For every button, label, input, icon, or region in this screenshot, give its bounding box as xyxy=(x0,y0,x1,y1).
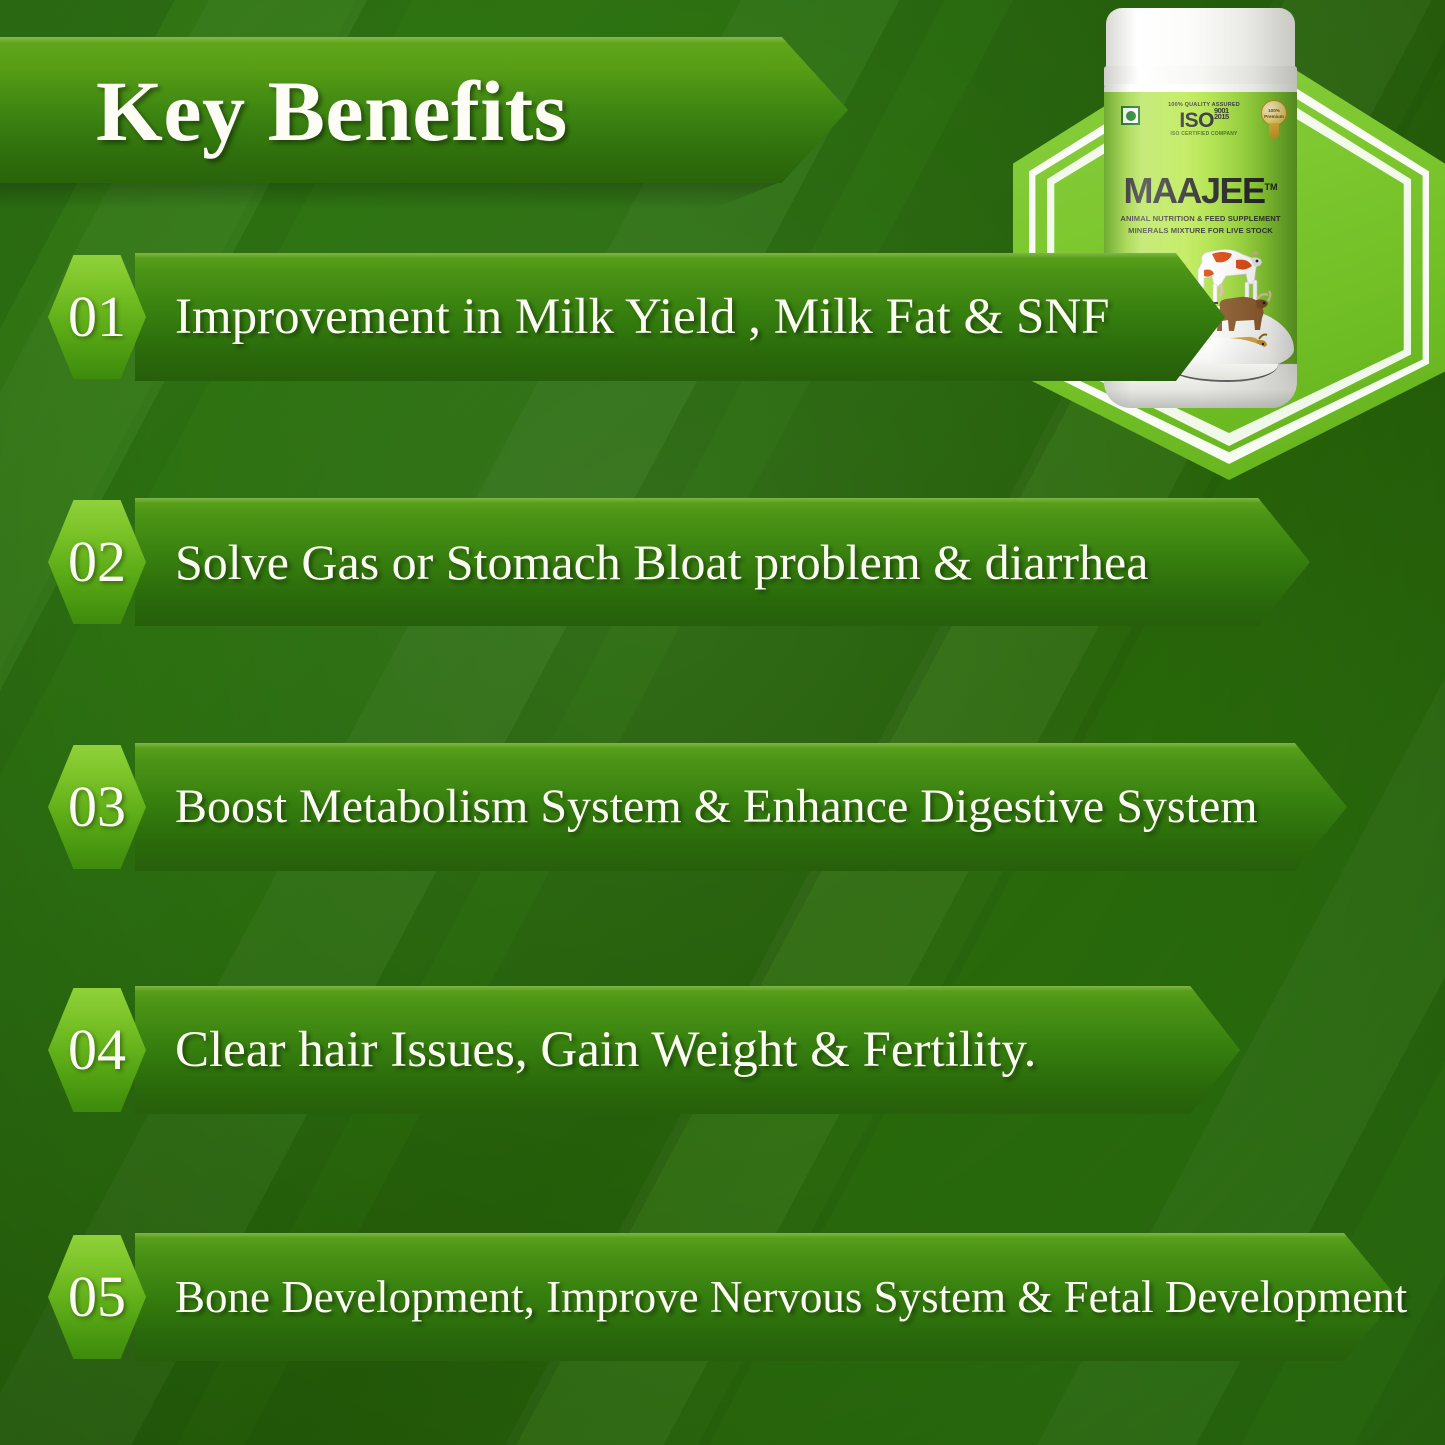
brand-word: MAAJEE xyxy=(1123,170,1264,211)
benefit-number-label: 04 xyxy=(48,988,146,1112)
benefit-text: Boost Metabolism System & Enhance Digest… xyxy=(175,743,1258,871)
page-title: Key Benefits xyxy=(96,52,796,170)
benefit-number-label: 01 xyxy=(48,255,146,379)
product-subtitle-1: ANIMAL NUTRITION & FEED SUPPLEMENT xyxy=(1104,214,1297,223)
benefit-number-label: 05 xyxy=(48,1235,146,1359)
vegetarian-mark-icon xyxy=(1121,106,1140,125)
product-subtitle-2: MINERALS MIXTURE FOR LIVE STOCK xyxy=(1104,226,1297,235)
infographic-canvas: Key Benefits 100% QUALITY ASSURED ISO900… xyxy=(0,0,1445,1445)
benefit-text: Bone Development, Improve Nervous System… xyxy=(175,1233,1407,1361)
medal-circle: 100% Premium xyxy=(1261,100,1287,126)
premium-medal-icon: 100% Premium xyxy=(1261,100,1287,140)
iso-certification-mark: 100% QUALITY ASSURED ISO90012015 ISO CER… xyxy=(1156,102,1252,137)
iso-year-2: 2015 xyxy=(1214,112,1229,121)
iso-logo-text: ISO90012015 xyxy=(1156,108,1252,131)
benefit-number-label: 03 xyxy=(48,745,146,869)
header-ribbon-shadow xyxy=(0,183,810,209)
medal-ribbon xyxy=(1269,123,1279,140)
iso-word: ISO xyxy=(1179,109,1214,132)
iso-company-text: ISO CERTIFIED COMPANY xyxy=(1156,131,1252,137)
benefit-text: Solve Gas or Stomach Bloat problem & dia… xyxy=(175,498,1148,626)
benefit-text: Clear hair Issues, Gain Weight & Fertili… xyxy=(175,986,1036,1114)
brand-name: MAAJEETM xyxy=(1104,170,1297,212)
benefit-text: Improvement in Milk Yield , Milk Fat & S… xyxy=(175,253,1110,381)
trademark-symbol: TM xyxy=(1265,182,1278,192)
benefit-number-label: 02 xyxy=(48,500,146,624)
medal-line-1: 100% xyxy=(1268,108,1280,113)
medal-line-2: Premium xyxy=(1264,114,1284,119)
